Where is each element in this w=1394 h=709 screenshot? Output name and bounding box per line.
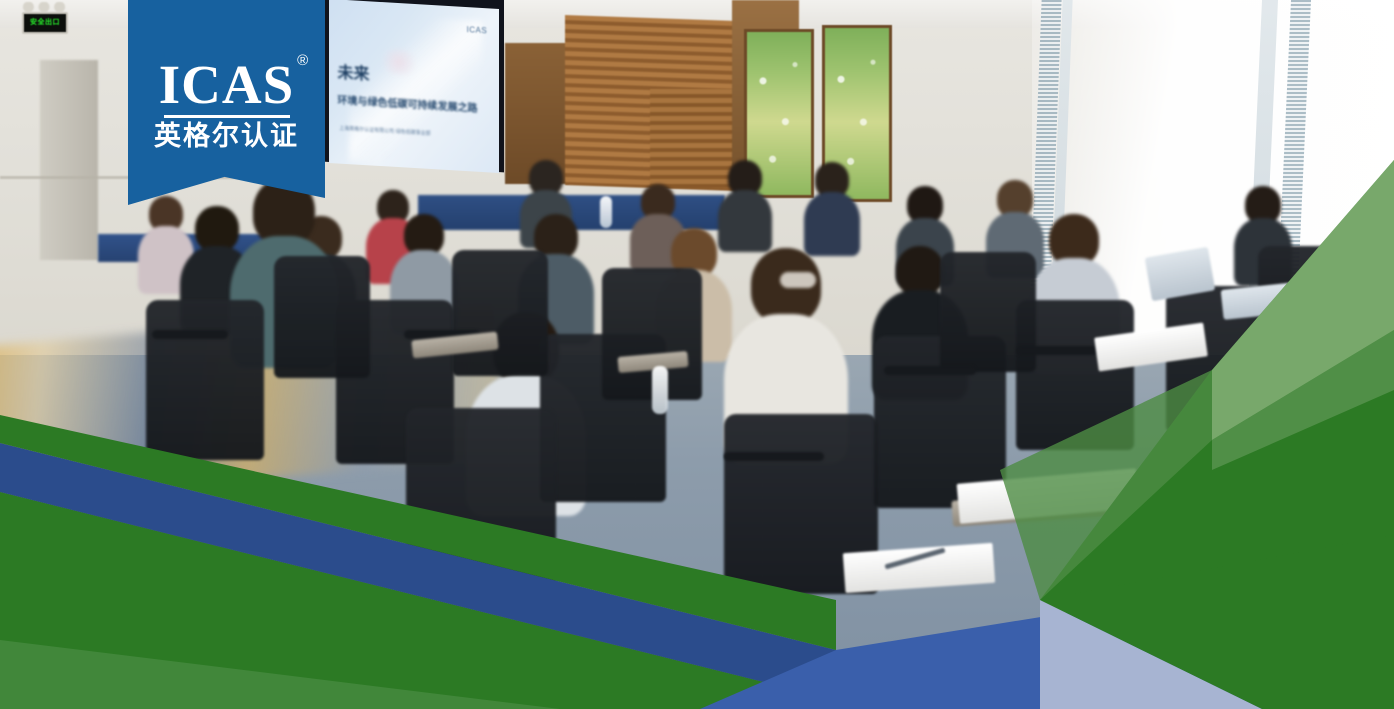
side-door (40, 60, 98, 260)
chair-armrest (884, 366, 976, 375)
emergency-lights (18, 2, 70, 12)
slide-logo: ICAS (466, 25, 487, 35)
chair-armrest (152, 330, 228, 339)
water-bottle (600, 196, 612, 228)
logo-divider (164, 115, 290, 118)
chair-armrest (724, 452, 824, 461)
exit-sign: 安全出口 (22, 12, 68, 34)
registered-trademark-icon: ® (297, 53, 309, 68)
chair-armrest (1016, 346, 1098, 355)
chair (146, 300, 264, 460)
icas-seminar-banner: 安全出口 ICAS 未来 环境与绿色低碳可持续发展之路 上海英格尔认证有限公司 … (0, 0, 1394, 709)
icas-wordmark: ICAS ® (159, 57, 294, 112)
slide-title: 未来 (337, 58, 369, 84)
screen-light-streak (349, 13, 482, 169)
icas-wordmark-text: ICAS (159, 54, 294, 115)
chair (406, 408, 556, 588)
icas-chinese-name: 英格尔认证 (154, 123, 299, 150)
chair (452, 250, 548, 376)
attendee (804, 162, 860, 254)
icas-logo-badge[interactable]: ICAS ® 英格尔认证 (128, 0, 325, 205)
chair (274, 256, 370, 378)
exit-sign-label-cn: 安全出口 (30, 20, 60, 26)
hair-clip (780, 272, 816, 288)
projector-screen: ICAS 未来 环境与绿色低碳可持续发展之路 上海英格尔认证有限公司 绿色低碳事… (329, 0, 499, 173)
water-bottle (652, 366, 668, 414)
